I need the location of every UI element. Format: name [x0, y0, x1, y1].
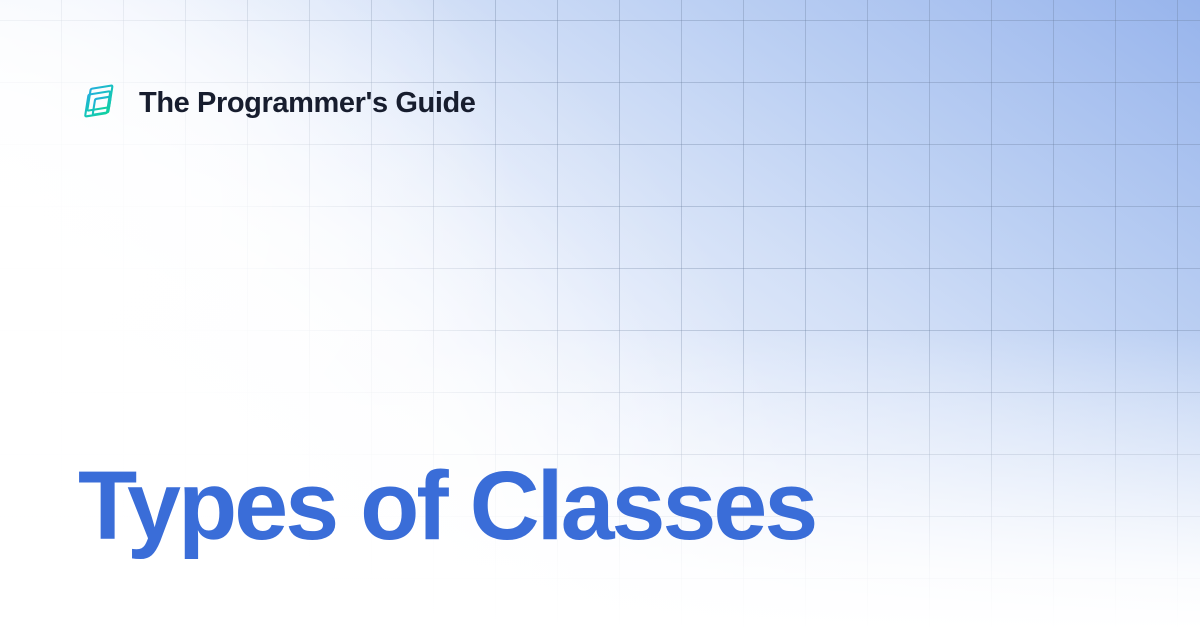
- brand-name: The Programmer's Guide: [139, 89, 476, 118]
- page-title: Types of Classes: [78, 455, 815, 558]
- overlapping-rhombus-layers-icon: [78, 81, 122, 125]
- cover-card: The Programmer's Guide Types of Classes: [0, 0, 1200, 630]
- brand-lockup: The Programmer's Guide: [78, 79, 476, 127]
